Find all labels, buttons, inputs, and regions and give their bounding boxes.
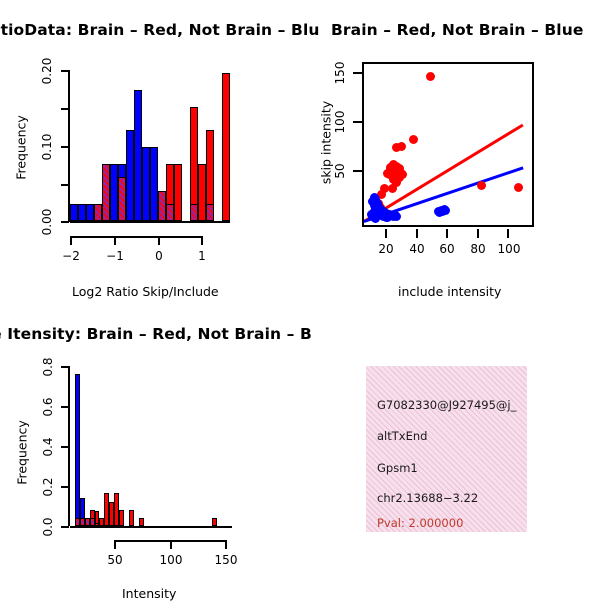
scatter-panel: Brain – Red, Not Brain – Blue skip inten… bbox=[300, 0, 600, 300]
scatter-point bbox=[391, 171, 400, 180]
histogram-bar bbox=[150, 147, 158, 221]
ratio-histogram-xlabel: Log2 Ratio Skip/Include bbox=[72, 284, 219, 299]
ratio-x-ticklabel-1: 1 bbox=[191, 249, 213, 263]
scatter-point bbox=[388, 184, 397, 193]
scatter-point bbox=[383, 213, 392, 222]
histogram-bar bbox=[142, 147, 150, 221]
histogram-bar-overlap bbox=[118, 177, 126, 221]
intensity-x-ticklabel-150: 150 bbox=[212, 553, 240, 567]
locus-text: chr2.13688−3.22 bbox=[377, 491, 478, 505]
intensity-y-tick-02 bbox=[61, 486, 69, 488]
scatter-y-tick-50 bbox=[353, 170, 362, 172]
ratio-x-ticklabel-0: 0 bbox=[148, 249, 170, 263]
intensity-histogram-ylabel: Frequency bbox=[15, 413, 30, 493]
scatter-x-ticklabel-20: 20 bbox=[375, 242, 397, 256]
ratio-x-axis-extend bbox=[70, 236, 203, 238]
scatter-point bbox=[392, 212, 401, 221]
scatter-point bbox=[371, 214, 380, 223]
intensity-y-tick-08 bbox=[61, 366, 69, 368]
intensity-y-tick-06 bbox=[61, 406, 69, 408]
intensity-x-tick-100 bbox=[170, 540, 172, 549]
intensity-y-ticklabel-04: 0.4 bbox=[41, 427, 55, 467]
histogram-bar-overlap bbox=[166, 204, 174, 221]
pvalue-text: Pval: 2.000000 bbox=[377, 516, 463, 530]
scatter-y-tick-150 bbox=[353, 72, 362, 74]
intensity-histogram-title: ne Itensity: Brain – Red, Not Brain – B bbox=[0, 325, 312, 343]
scatter-x-tick-80 bbox=[477, 229, 479, 238]
scatter-x-tick-20 bbox=[385, 229, 387, 238]
ratio-x-tick--1 bbox=[114, 236, 116, 245]
probe-id-text: G7082330@J927495@j_ bbox=[377, 398, 516, 412]
scatter-title: Brain – Red, Not Brain – Blue bbox=[331, 21, 583, 39]
scatter-y-ticklabel-100: 100 bbox=[333, 102, 347, 142]
ratio-y-tick-020 bbox=[61, 70, 69, 72]
histogram-bar bbox=[198, 164, 206, 221]
scatter-point bbox=[392, 143, 401, 152]
scatter-x-tick-60 bbox=[446, 229, 448, 238]
histogram-bar bbox=[174, 164, 182, 221]
histogram-bar bbox=[119, 510, 124, 526]
intensity-y-ticklabel-06: 0.6 bbox=[41, 387, 55, 427]
ratio-x-ticklabel--1: −1 bbox=[104, 249, 126, 263]
intensity-histogram-panel: ne Itensity: Brain – Red, Not Brain – B … bbox=[0, 300, 300, 600]
intensity-x-ticklabel-50: 50 bbox=[104, 553, 126, 567]
histogram-bar bbox=[222, 73, 230, 221]
intensity-x-tick-50 bbox=[114, 540, 116, 549]
scatter-x-ticklabel-60: 60 bbox=[436, 242, 458, 256]
histogram-bar bbox=[129, 510, 134, 526]
histogram-bar bbox=[126, 130, 134, 221]
scatter-point bbox=[514, 183, 523, 192]
scatter-x-ticklabel-100: 100 bbox=[495, 242, 523, 256]
histogram-bar bbox=[78, 204, 86, 221]
scatter-point bbox=[426, 72, 435, 81]
scatter-point bbox=[441, 206, 450, 215]
ratio-x-axis bbox=[70, 221, 230, 223]
histogram-bar bbox=[212, 518, 217, 526]
event-type-text: altTxEnd bbox=[377, 429, 427, 443]
ratio-histogram-ylabel: Frequency bbox=[14, 108, 29, 188]
ratio-histogram-title: RatioData: Brain – Red, Not Brain – Blu bbox=[0, 21, 320, 39]
scatter-point bbox=[477, 181, 486, 190]
scatter-y-tick-100 bbox=[353, 121, 362, 123]
scatter-ylabel: skip intensity bbox=[319, 98, 334, 188]
intensity-y-ticklabel-02: 0.2 bbox=[41, 467, 55, 507]
ratio-x-ticklabel--2: −2 bbox=[60, 249, 82, 263]
scatter-y-ticklabel-150: 150 bbox=[333, 53, 347, 93]
intensity-histogram-xlabel: Intensity bbox=[122, 586, 176, 601]
ratio-x-tick-0 bbox=[158, 236, 160, 245]
ratio-histogram-bars bbox=[70, 70, 230, 221]
histogram-bar-overlap bbox=[158, 191, 166, 221]
ratio-histogram-panel: RatioData: Brain – Red, Not Brain – Blu … bbox=[0, 0, 300, 300]
gene-symbol-text: Gpsm1 bbox=[377, 461, 418, 475]
scatter-x-tick-40 bbox=[416, 229, 418, 238]
histogram-bar-overlap bbox=[102, 164, 110, 221]
scatter-x-tick-100 bbox=[507, 229, 509, 238]
intensity-y-ticklabel-00: 0.0 bbox=[41, 507, 55, 547]
ratio-y-tick-015 bbox=[61, 108, 69, 110]
histogram-bar-overlap bbox=[190, 204, 198, 221]
intensity-x-axis bbox=[70, 526, 232, 528]
scatter-x-ticklabel-80: 80 bbox=[467, 242, 489, 256]
intensity-x-tick-150 bbox=[225, 540, 227, 549]
intensity-y-ticklabel-08: 0.8 bbox=[41, 347, 55, 387]
intensity-x-ticklabel-100: 100 bbox=[157, 553, 185, 567]
scatter-x-ticklabel-40: 40 bbox=[406, 242, 428, 256]
histogram-bar bbox=[139, 518, 144, 526]
histogram-bar bbox=[70, 204, 78, 221]
ratio-y-tick-005 bbox=[61, 184, 69, 186]
ratio-y-tick-010 bbox=[61, 146, 69, 148]
ratio-y-ticklabel-000: 0.00 bbox=[40, 202, 54, 242]
scatter-plot-area bbox=[362, 62, 534, 227]
ratio-x-tick-1 bbox=[201, 236, 203, 245]
intensity-y-tick-00 bbox=[61, 526, 69, 528]
histogram-bar-overlap bbox=[94, 204, 102, 221]
ratio-y-ticklabel-010: 0.10 bbox=[40, 127, 54, 167]
ratio-y-ticklabel-020: 0.20 bbox=[40, 51, 54, 91]
gene-info-panel: G7082330@J927495@j_ altTxEnd Gpsm1 chr2.… bbox=[366, 366, 527, 532]
intensity-histogram-bars bbox=[70, 366, 232, 526]
histogram-bar bbox=[110, 164, 118, 221]
histogram-bar-overlap bbox=[206, 204, 214, 221]
scatter-point bbox=[409, 135, 418, 144]
intensity-y-tick-04 bbox=[61, 446, 69, 448]
scatter-y-ticklabel-50: 50 bbox=[333, 151, 347, 191]
ratio-y-tick-000 bbox=[61, 221, 69, 223]
histogram-bar bbox=[86, 204, 94, 221]
scatter-xlabel: include intensity bbox=[398, 284, 501, 299]
histogram-bar bbox=[134, 90, 142, 221]
ratio-x-tick--2 bbox=[70, 236, 72, 245]
